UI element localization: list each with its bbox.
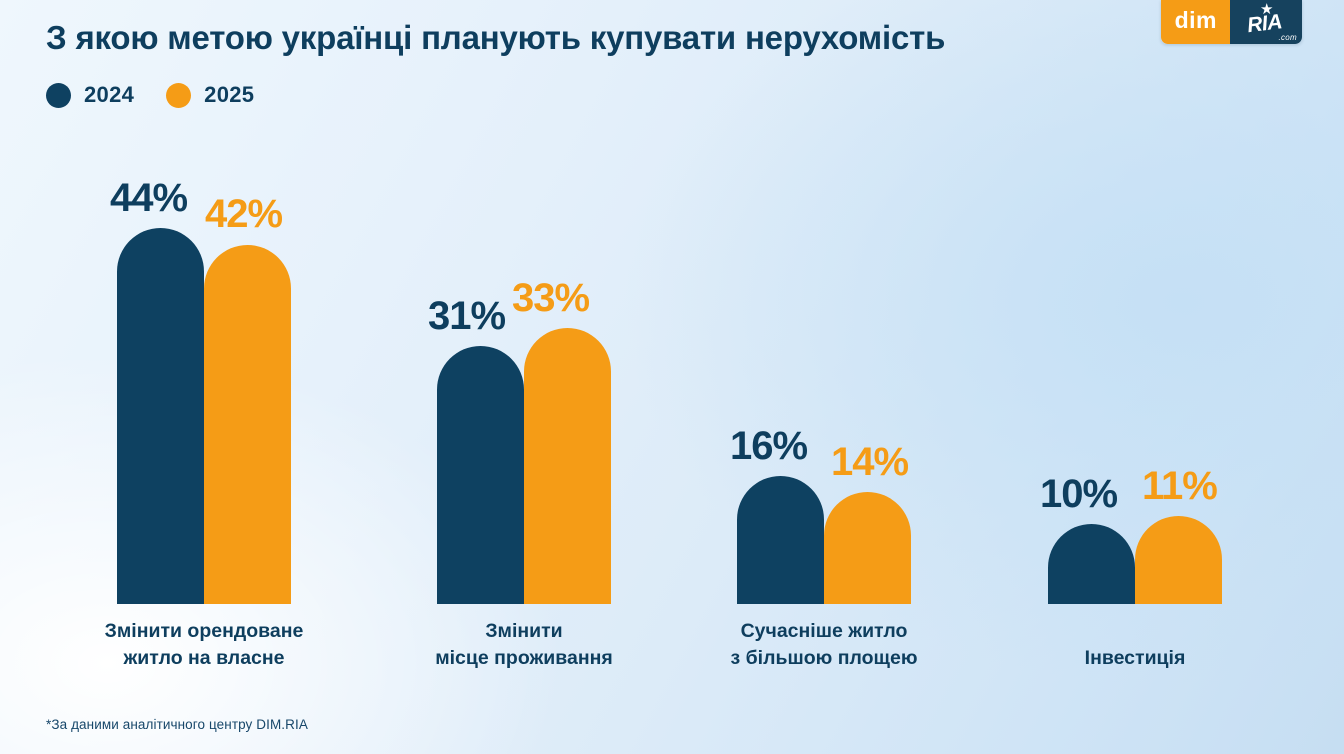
value-label-2024-4: 10% xyxy=(1040,474,1117,514)
bar-pair xyxy=(437,328,611,604)
bar-pair xyxy=(1048,516,1222,604)
value-label-2024-3: 16% xyxy=(730,426,807,466)
bar-group: Інвестиція xyxy=(1048,0,1222,754)
bar-chart: Змінити орендованежитло на власне44%42%З… xyxy=(0,0,1344,754)
category-label: Змінитимісце проживання xyxy=(374,618,674,672)
bar-group: Змінитимісце проживання xyxy=(437,0,611,754)
bar-pair xyxy=(117,228,291,604)
value-label-2025-3: 14% xyxy=(831,442,908,482)
bar-2024-1[interactable] xyxy=(117,228,204,604)
bar-2025-4[interactable] xyxy=(1135,516,1222,604)
bar-2025-1[interactable] xyxy=(204,245,291,604)
category-label: Інвестиція xyxy=(985,645,1285,672)
category-label: Сучасніше житлоз більшою площею xyxy=(674,618,974,672)
infographic-root: З якою метою українці планують купувати … xyxy=(0,0,1344,754)
value-label-2024-1: 44% xyxy=(110,178,187,218)
value-label-2025-4: 11% xyxy=(1142,466,1217,506)
category-label: Змінити орендованежитло на власне xyxy=(54,618,354,672)
bar-2024-2[interactable] xyxy=(437,346,524,604)
value-label-2024-2: 31% xyxy=(428,296,505,336)
bar-2025-2[interactable] xyxy=(524,328,611,604)
value-label-2025-2: 33% xyxy=(512,278,589,318)
bar-pair xyxy=(737,476,911,604)
value-label-2025-1: 42% xyxy=(205,194,282,234)
source-footnote: *За даними аналітичного центру DIM.RIA xyxy=(46,717,308,732)
bar-2024-4[interactable] xyxy=(1048,524,1135,604)
bar-2025-3[interactable] xyxy=(824,492,911,604)
bar-2024-3[interactable] xyxy=(737,476,824,604)
bar-group: Сучасніше житлоз більшою площею xyxy=(737,0,911,754)
bar-group: Змінити орендованежитло на власне xyxy=(117,0,291,754)
